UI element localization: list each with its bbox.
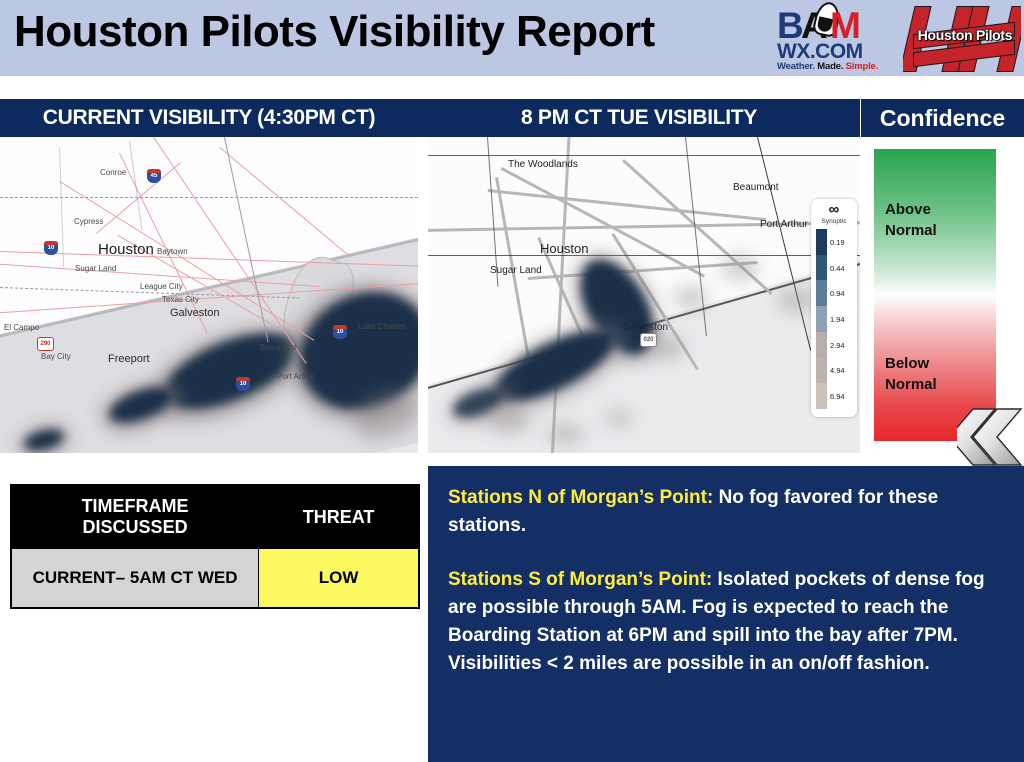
confidence-below-line1: Below [885,353,995,374]
report-header: Houston Pilots Visibility Report B A M W… [0,0,1024,76]
confidence-below-normal-label: Below Normal [885,353,995,395]
fc-fog-patch-4 [604,409,634,427]
column-header-timeframe-line1: TIMEFRAME [12,496,258,517]
discussion-label-south: Stations S of Morgan’s Point: [448,569,712,590]
panel-title-forecast: 8 PM CT TUE VISIBILITY [418,106,860,130]
city-label: Sugar Land [490,265,542,276]
bamwx-letter-m: M [830,9,861,43]
cell-timeframe-line2: WED [198,568,238,587]
city-label: Conroe [100,168,126,177]
county-border-n [428,155,860,156]
colorbar-gradient-strip [816,229,827,409]
route-shield-icon: 10 [333,325,347,339]
city-label: Port Arthur [277,372,315,381]
discussion-paragraph-north: Stations N of Morgan’s Point: No fog fav… [448,484,1004,540]
cell-timeframe-line1: CURRENT– 5AM CT [33,568,194,587]
bamwx-tagline: Weather. Made. Simple. [777,61,878,72]
bamwx-tagline-3: Simple. [846,61,878,72]
bamwx-logo: B A M WX.COM Weather. Made. Simple. [777,6,899,70]
city-label: Cypress [74,217,103,226]
map-forecast-route-shield: 020 [640,333,657,347]
discussion-panel: Stations N of Morgan’s Point: No fog fav… [428,466,1024,762]
column-header-threat: THREAT [259,485,419,549]
discussion-paragraph-south: Stations S of Morgan’s Point: Isolated p… [448,566,1004,678]
map-forecast-visibility[interactable]: The WoodlandsHoustonSugar LandBeaumontPo… [428,137,860,453]
panel-title-confidence: Confidence [861,105,1024,132]
infinity-icon: ∞ [811,202,857,217]
colorbar-source-label: Synoptic [811,218,857,225]
column-header-timeframe: TIMEFRAME DISCUSSED [11,485,259,549]
fc-fog-patch-7 [546,423,586,445]
city-label: Sugar Land [75,264,116,273]
fc-fog-patch-3 [722,255,758,281]
column-header-timeframe-line2: DISCUSSED [12,517,258,538]
city-label: Lake Charles [358,322,405,331]
city-label: Houston [98,241,154,258]
cell-timeframe: CURRENT– 5AM CT WED [11,549,259,609]
route-shield-icon: 10 [44,241,58,255]
city-label: Texas City [162,295,199,304]
city-label: Freeport [108,353,150,365]
city-label: Galveston [623,322,668,333]
confidence-above-line1: Above [885,199,995,220]
colorbar-segment [816,280,827,306]
houston-pilots-logo: Houston Pilots [903,2,1021,74]
bamwx-tagline-1: Weather. [777,61,815,72]
bamwx-letter-b: B [777,9,804,43]
colorbar-tick-label: 2.94 [830,341,845,350]
houston-pilots-label: Houston Pilots [909,27,1021,43]
double-chevron-left-icon [957,407,1023,467]
colorbar-tick-label: 6.94 [830,392,845,401]
county-line-1 [0,197,418,198]
panel-header-confidence: Confidence [861,99,1024,137]
bamwx-domain: WX.COM [777,41,863,62]
route-shield-icon: 45 [147,169,161,183]
table-row: CURRENT– 5AM CT WED LOW [11,549,419,609]
city-label: Galveston [170,307,220,319]
confidence-below-line2: Normal [885,374,995,395]
panel-title-current: CURRENT VISIBILITY (4:30PM CT) [0,106,418,130]
city-label: Bay City [41,352,71,361]
city-label: Beaumont [260,343,296,352]
map-current-visibility[interactable]: ConroeCypressHoustonBaytownSugar LandLea… [0,137,418,453]
route-shield-icon: 10 [236,377,250,391]
city-label: Beaumont [733,182,779,193]
confidence-above-normal-label: Above Normal [885,199,995,241]
fc-fog-patch-1 [674,287,708,309]
confidence-gradient-bar [874,149,996,441]
threat-table: TIMEFRAME DISCUSSED THREAT CURRENT– 5AM … [10,484,420,609]
colorbar-tick-label: 0.44 [830,264,845,273]
city-label: Houston [540,241,588,256]
city-label: The Woodlands [508,159,578,170]
panel-header-current-visibility: CURRENT VISIBILITY (4:30PM CT) [0,99,418,137]
colorbar-tick-label: 0.19 [830,238,845,247]
cell-threat-level: LOW [259,549,419,609]
city-label: Baytown [157,247,188,256]
city-label: El Campo [4,323,39,332]
confidence-panel: Above Normal Below Normal [861,137,1024,453]
colorbar-segment [816,383,827,409]
colorbar-segment [816,306,827,332]
county-border-s [428,255,860,256]
route-shield-icon: 290 [37,337,54,351]
colorbar-segment [816,255,827,281]
panel-header-forecast-visibility: 8 PM CT TUE VISIBILITY [418,99,860,137]
table-header-row: TIMEFRAME DISCUSSED THREAT [11,485,419,549]
city-label: League City [140,282,183,291]
city-label: Port Arthur [760,219,808,230]
page-title: Houston Pilots Visibility Report [14,7,655,57]
discussion-label-north: Stations N of Morgan’s Point: [448,487,713,508]
colorbar-segment [816,332,827,358]
confidence-above-line2: Normal [885,220,995,241]
colorbar-tick-label: 0.94 [830,289,845,298]
colorbar-segment [816,358,827,384]
visibility-colorbar-legend: ∞ Synoptic 0.190.440.941.942.944.946.94 [811,199,857,417]
colorbar-segment [816,229,827,255]
fc-fog-patch-6 [488,409,532,433]
colorbar-tick-label: 1.94 [830,315,845,324]
colorbar-tick-label: 4.94 [830,366,845,375]
bamwx-tagline-2: Made. [817,61,843,72]
